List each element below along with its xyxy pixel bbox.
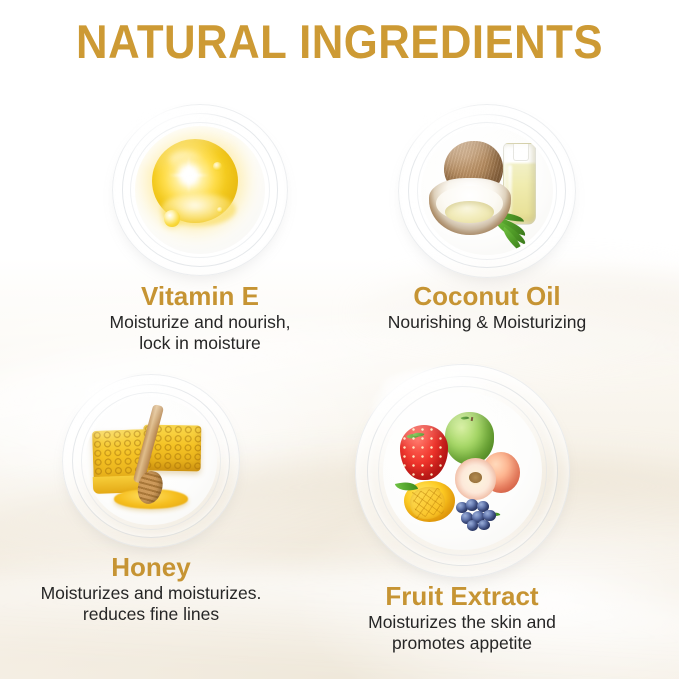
grape [483,510,495,522]
apple-leaf [461,415,470,422]
honey-dipper-head [134,469,166,507]
apple-stem [470,416,473,420]
oil-pool [161,193,237,226]
dish-inner [383,392,542,550]
palm-leaf-icon [486,215,527,236]
ingredient-description-line: reduces fine lines [0,604,321,624]
oil-droplet-icon [164,210,181,227]
ingredient-name: Coconut Oil [317,282,657,311]
grape [467,520,478,530]
peach-whole-icon [482,452,520,493]
oil-bottle-icon [503,143,537,225]
dish-inner [135,126,265,253]
ingredient-description-line: Moisturizes the skin and [292,612,632,632]
ingredient-name: Fruit Extract [292,582,632,611]
palm-leaf-icon [489,211,524,221]
dish-inner [421,127,553,256]
dish-gloss [412,111,522,174]
oil-highlight [169,151,203,169]
palm-leaf-icon [492,219,530,244]
oil-sparkle-icon [178,164,200,186]
honey-dish [62,374,240,548]
vitamin-e-dish [112,104,288,276]
oil-droplet-icon [217,207,224,213]
coconut-oil-dish [398,104,576,278]
honey-drip [146,479,154,500]
honey-dipper-icon [133,404,164,484]
grape [466,499,478,511]
ingredient-description-line: Moisturizes and moisturizes. [0,583,321,603]
coconut-whole-icon [444,141,503,198]
strawberry-icon [400,425,448,480]
ingredient-description-line: lock in moisture [30,333,370,353]
glass-dish-icon [62,374,240,548]
coconut-flesh [436,186,503,221]
dish-inner [85,397,217,526]
ingredient-description-line: promotes appetite [292,633,632,653]
oil-droplet-icon [213,162,222,171]
blueberry-cluster-icon [453,490,507,531]
coconut-half-icon [429,178,511,235]
green-apple-icon [445,412,494,464]
oil-glare [174,161,203,186]
dish-gloss [126,111,235,173]
mango-icon [404,481,455,522]
dish-rim-highlight [83,377,186,408]
dish-rim-highlight [133,107,235,138]
grape [472,511,485,523]
grape [477,501,489,512]
glass-dish-icon [398,104,576,278]
grape [461,512,473,524]
glass-dish-icon [112,104,288,276]
honeycomb-icon [143,424,202,471]
dish-gloss [372,373,505,450]
ingredient-name: Honey [0,553,321,582]
fruit-extract-label-block: Fruit Extract Moisturizes the skin and p… [292,582,632,653]
poster-title: NATURAL INGREDIENTS [24,18,655,65]
grape-leaf [486,510,501,519]
peach-half-icon [455,458,496,499]
dish-gloss [76,381,186,444]
grape [478,520,489,530]
grape [456,502,468,513]
palm-leaf-icon [498,227,526,253]
dish-rim-highlight [381,368,506,407]
mint-leaf-icon [395,478,418,494]
coconut-oil-label-block: Coconut Oil Nourishing & Moisturizing [317,282,657,333]
honey-pool [114,489,188,508]
peach-pit [469,472,482,483]
natural-ingredients-poster: NATURAL INGREDIENTS [0,0,679,679]
coconut-oil-liquid [445,201,494,224]
fruit-extract-dish [355,364,570,578]
mango-slice-icon [408,484,448,521]
strawberry-leaf [406,431,420,441]
glass-dish-icon [355,364,570,578]
strawberry-leaf [412,431,424,439]
honeycomb-side [93,475,149,494]
oil-sphere-icon [152,139,238,223]
honey-label-block: Honey Moisturizes and moisturizes. reduc… [0,553,321,624]
honeycomb-icon [92,429,149,488]
grape-leaf [474,514,484,521]
ingredient-description-line: Nourishing & Moisturizing [317,312,657,332]
dish-rim-highlight [419,107,522,138]
